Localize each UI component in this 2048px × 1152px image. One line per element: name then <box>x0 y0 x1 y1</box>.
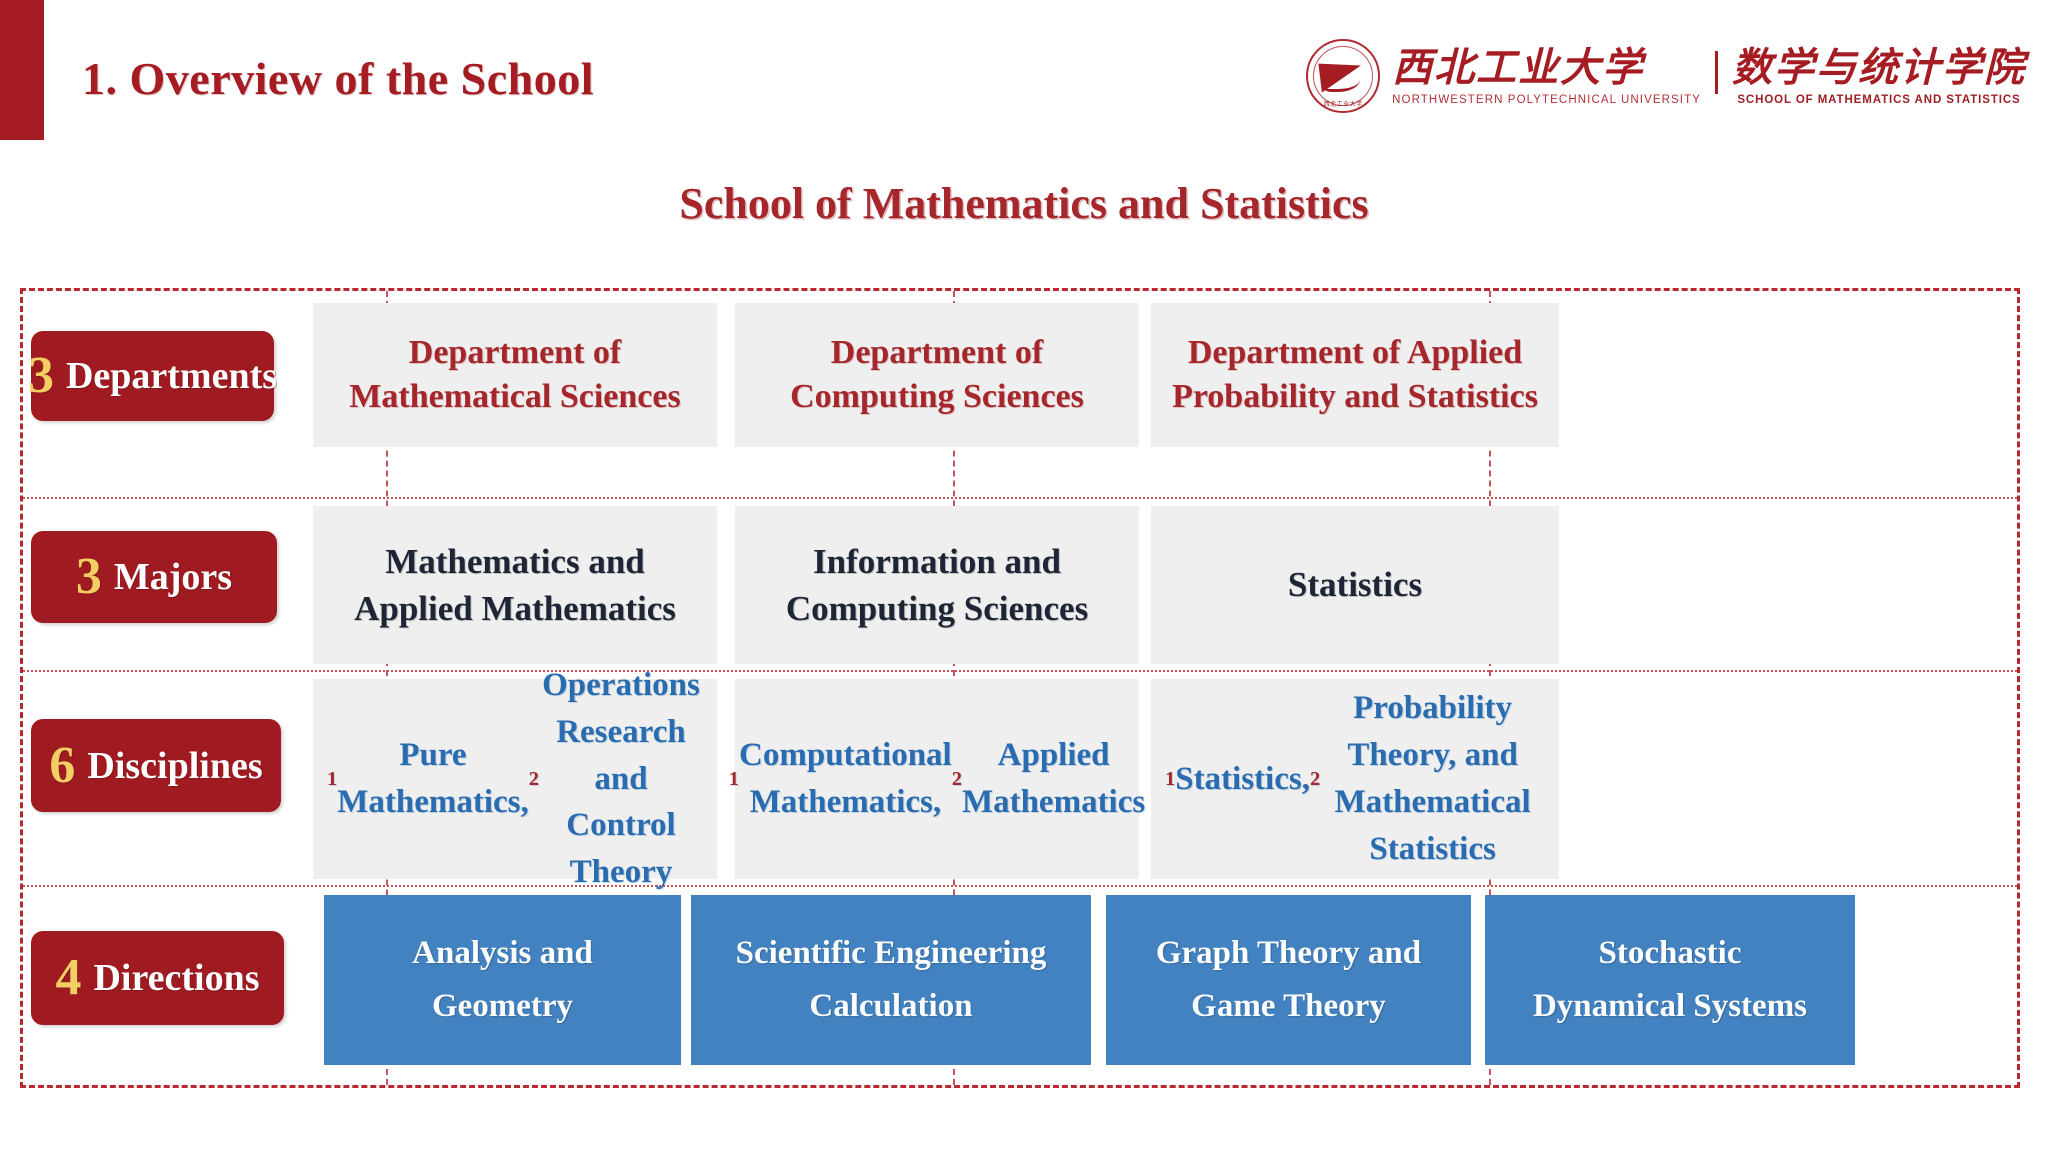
cell-discipline-2: 1ComputationalMathematics,2Applied Mathe… <box>735 679 1139 879</box>
cell-discipline-3: 1Statistics,2Probability Theory, andMath… <box>1151 679 1559 879</box>
logo-divider <box>1715 51 1718 94</box>
grid-row-divider-2 <box>23 670 2017 672</box>
logo-university-en: NORTHWESTERN POLYTECHNICAL UNIVERSITY <box>1392 94 1701 106</box>
row-label-number: 6 <box>49 740 75 792</box>
row-label-word: Disciplines <box>87 747 262 785</box>
cell-discipline-1: 1Pure Mathematics,2Operations Research a… <box>313 679 717 879</box>
direction-box-4[interactable]: StochasticDynamical Systems <box>1485 895 1855 1065</box>
direction-box-1[interactable]: Analysis andGeometry <box>324 895 681 1065</box>
seal-caption: 西北工业大学 <box>1304 99 1382 108</box>
cell-major-1: Mathematics andApplied Mathematics <box>313 506 717 664</box>
row-label-directions[interactable]: 4 Directions <box>31 931 284 1025</box>
section-heading: School of Mathematics and Statistics <box>0 178 2048 229</box>
grid-row-divider-3 <box>23 885 2017 887</box>
slide-header: 1. Overview of the School 西北工业大学 西北工业大学 … <box>0 0 2048 150</box>
grid-row-divider-1 <box>23 497 2017 499</box>
row-label-number: 3 <box>28 350 54 402</box>
title-accent-bar <box>0 0 44 140</box>
npu-seal-emblem-icon: 西北工业大学 <box>1304 37 1382 115</box>
logo-school-en: SCHOOL OF MATHEMATICS AND STATISTICS <box>1732 94 2026 106</box>
cell-major-2: Information andComputing Sciences <box>735 506 1139 664</box>
cell-department-1: Department ofMathematical Sciences <box>313 303 717 447</box>
page-title: 1. Overview of the School <box>82 52 594 105</box>
row-label-majors[interactable]: 3 Majors <box>31 531 277 623</box>
row-label-word: Directions <box>93 959 259 997</box>
direction-box-3[interactable]: Graph Theory andGame Theory <box>1106 895 1471 1065</box>
university-logo: 西北工业大学 西北工业大学 NORTHWESTERN POLYTECHNICAL… <box>1304 28 2026 124</box>
row-label-word: Majors <box>114 558 232 596</box>
cell-major-3: Statistics <box>1151 506 1559 664</box>
row-label-disciplines[interactable]: 6 Disciplines <box>31 719 281 812</box>
logo-school-block: 数学与统计学院 SCHOOL OF MATHEMATICS AND STATIS… <box>1732 47 2026 106</box>
logo-university-block: 西北工业大学 NORTHWESTERN POLYTECHNICAL UNIVER… <box>1392 47 1701 106</box>
logo-school-cn: 数学与统计学院 <box>1732 47 2026 89</box>
row-label-number: 3 <box>76 551 102 603</box>
overview-grid: 3 Departments Department ofMathematical … <box>20 288 2020 1088</box>
row-label-word: Departments <box>66 357 277 395</box>
cell-department-3: Department of AppliedProbability and Sta… <box>1151 303 1559 447</box>
logo-university-cn: 西北工业大学 <box>1392 47 1701 89</box>
row-label-number: 4 <box>55 952 81 1004</box>
cell-department-2: Department ofComputing Sciences <box>735 303 1139 447</box>
row-label-departments[interactable]: 3 Departments <box>31 331 274 421</box>
logo-wordmark: 西北工业大学 NORTHWESTERN POLYTECHNICAL UNIVER… <box>1392 47 2026 106</box>
direction-box-2[interactable]: Scientific EngineeringCalculation <box>691 895 1091 1065</box>
